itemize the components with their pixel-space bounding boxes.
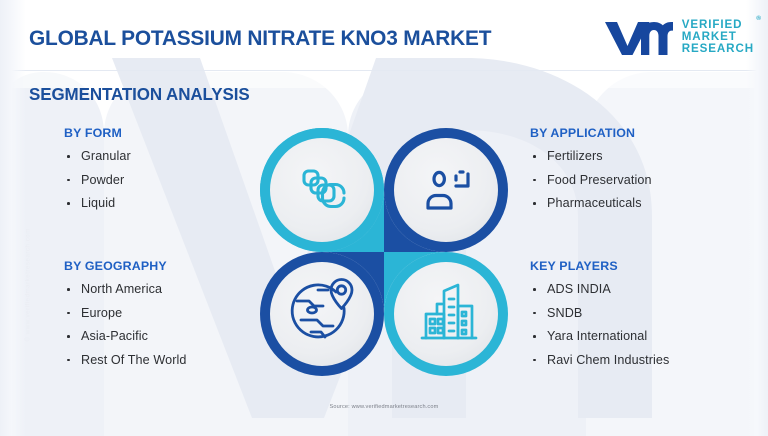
list-item: Pharmaceuticals bbox=[530, 196, 652, 210]
segment-list-key-players: ADS INDIA SNDB Yara International Ravi C… bbox=[530, 282, 669, 367]
list-item: Liquid bbox=[64, 196, 131, 210]
logo-wordmark: VERIFIED MARKET RESEARCH ® bbox=[682, 19, 754, 54]
segment-title-form: BY FORM bbox=[64, 126, 131, 140]
brand-logo[interactable]: VERIFIED MARKET RESEARCH ® bbox=[603, 19, 754, 55]
pinwheel-quadrant-geography[interactable] bbox=[260, 252, 384, 376]
list-item: Powder bbox=[64, 173, 131, 187]
segment-icon-pinwheel bbox=[256, 124, 512, 380]
segment-list-form: Granular Powder Liquid bbox=[64, 149, 131, 210]
pinwheel-quadrant-application[interactable] bbox=[384, 128, 508, 252]
list-item: Europe bbox=[64, 306, 187, 320]
segment-block-application: BY APPLICATION Fertilizers Food Preserva… bbox=[530, 126, 652, 220]
list-item: Fertilizers bbox=[530, 149, 652, 163]
header-divider bbox=[0, 70, 768, 71]
infographic-slide: GLOBAL POTASSIUM NITRATE KNO3 MARKET VER… bbox=[0, 0, 768, 436]
segment-title-geography: BY GEOGRAPHY bbox=[64, 259, 187, 273]
segment-block-form: BY FORM Granular Powder Liquid bbox=[64, 126, 131, 220]
vertical-watermark: © www.verifiedmarketresearch.com bbox=[25, 162, 32, 342]
list-item: North America bbox=[64, 282, 187, 296]
segment-list-geography: North America Europe Asia-Pacific Rest O… bbox=[64, 282, 187, 367]
pinwheel-quadrant-form[interactable] bbox=[260, 128, 384, 252]
section-heading: SEGMENTATION ANALYSIS bbox=[29, 84, 250, 105]
segment-list-application: Fertilizers Food Preservation Pharmaceut… bbox=[530, 149, 652, 210]
pinwheel-quadrant-key-players[interactable] bbox=[384, 252, 508, 376]
page-title: GLOBAL POTASSIUM NITRATE KNO3 MARKET bbox=[29, 26, 491, 51]
list-item: Asia-Pacific bbox=[64, 329, 187, 343]
header: GLOBAL POTASSIUM NITRATE KNO3 MARKET VER… bbox=[0, 0, 768, 70]
segment-title-application: BY APPLICATION bbox=[530, 126, 652, 140]
list-item: Ravi Chem Industries bbox=[530, 353, 669, 367]
list-item: Food Preservation bbox=[530, 173, 652, 187]
list-item: Rest Of The World bbox=[64, 353, 187, 367]
segment-block-key-players: KEY PLAYERS ADS INDIA SNDB Yara Internat… bbox=[530, 259, 669, 376]
registered-mark-icon: ® bbox=[756, 16, 761, 23]
list-item: SNDB bbox=[530, 306, 669, 320]
segment-block-geography: BY GEOGRAPHY North America Europe Asia-P… bbox=[64, 259, 187, 376]
vmr-monogram-icon bbox=[603, 19, 673, 55]
list-item: Yara International bbox=[530, 329, 669, 343]
list-item: Granular bbox=[64, 149, 131, 163]
list-item: ADS INDIA bbox=[530, 282, 669, 296]
logo-line-research: RESEARCH bbox=[682, 43, 754, 55]
segment-title-key-players: KEY PLAYERS bbox=[530, 259, 669, 273]
source-caption: Source: www.verifiedmarketresearch.com bbox=[0, 404, 768, 410]
